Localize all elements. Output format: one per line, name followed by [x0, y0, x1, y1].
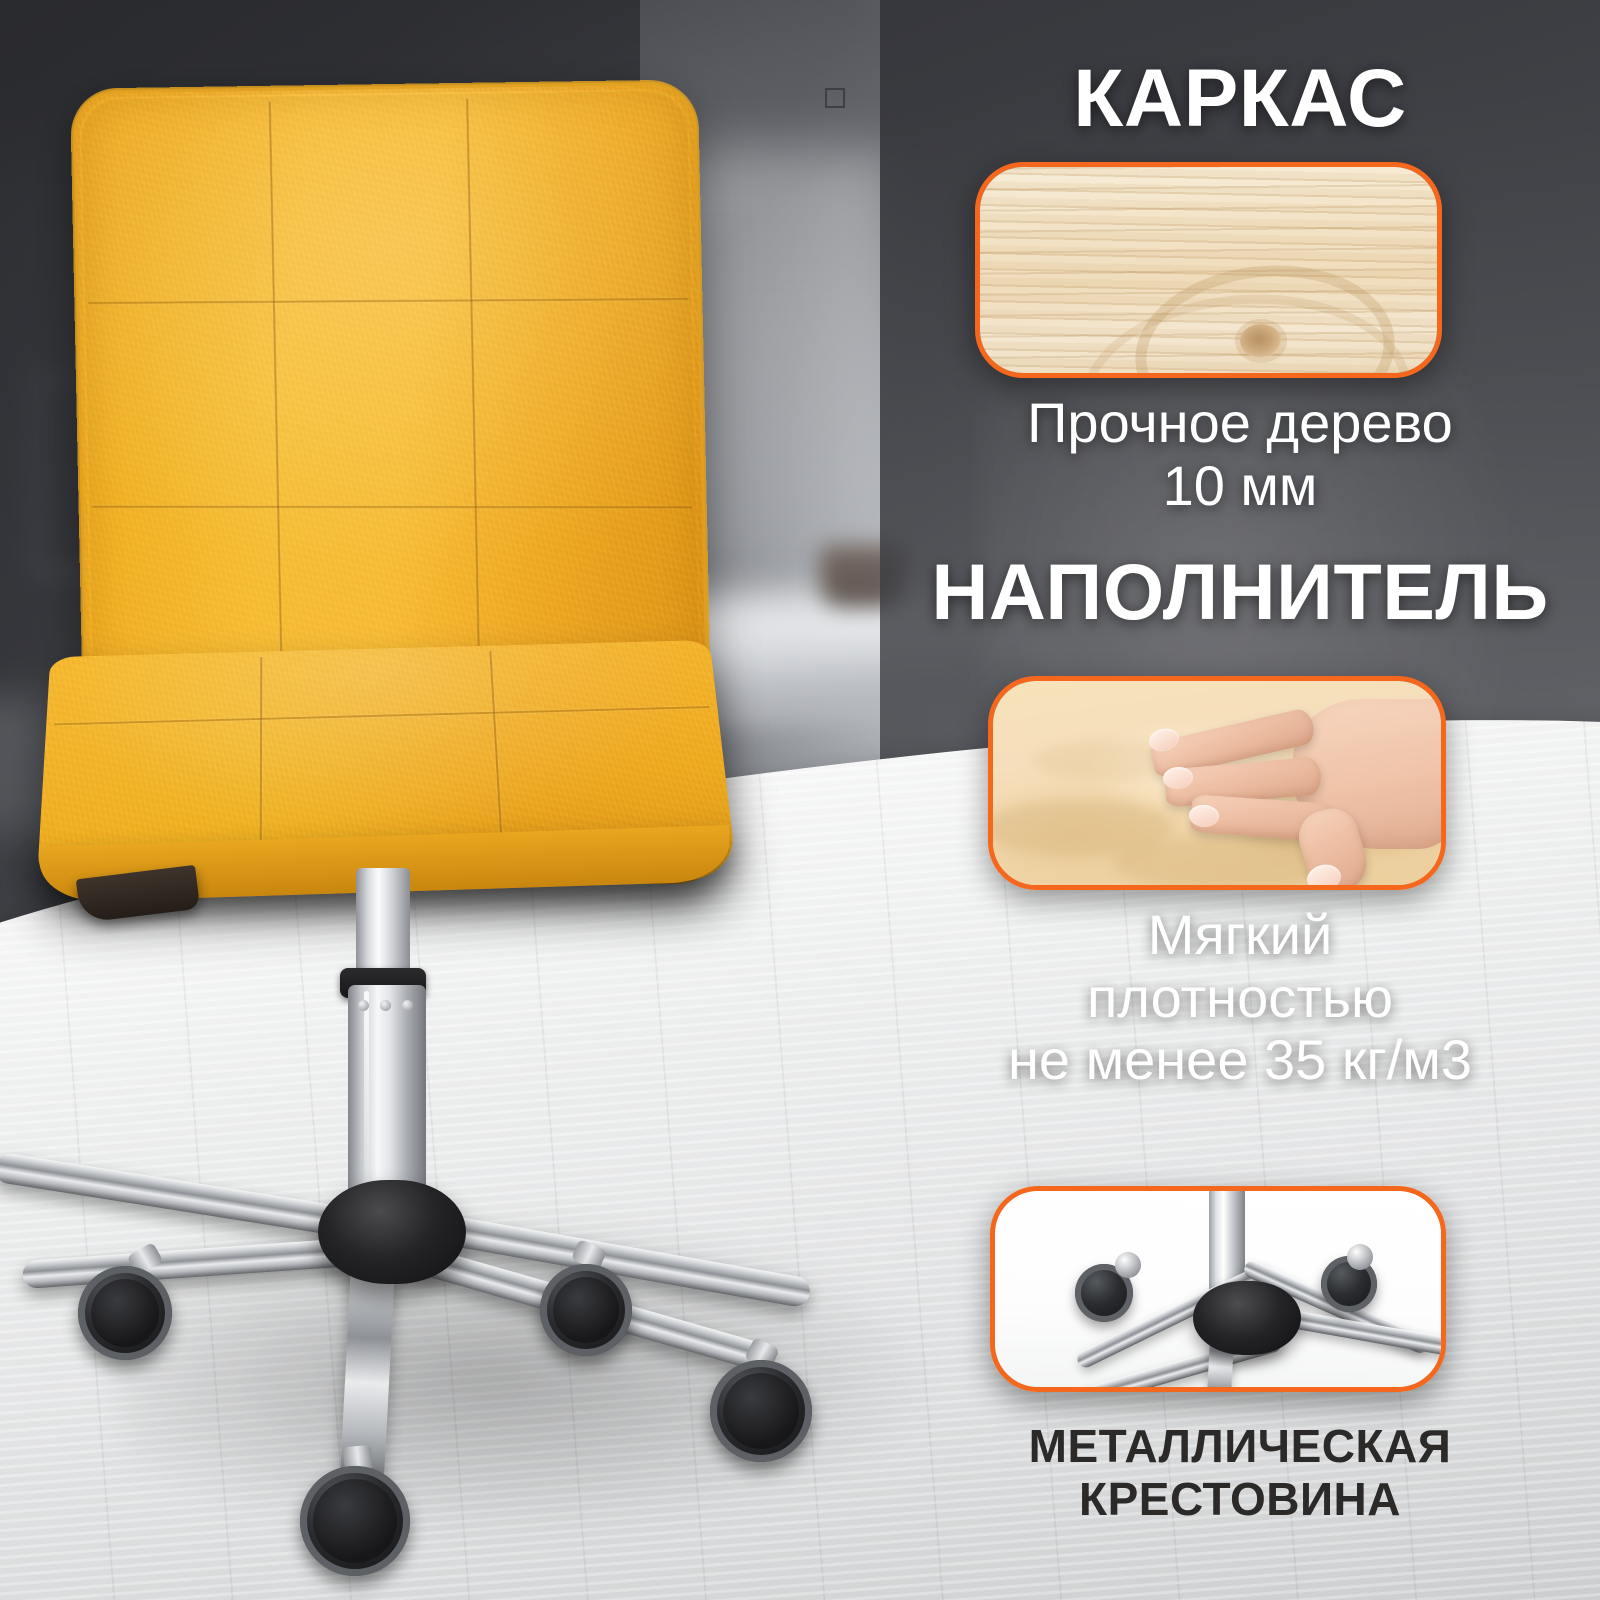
- heading-filler: НАПОЛНИТЕЛЬ: [880, 552, 1600, 631]
- base-photo-hub: [1193, 1281, 1301, 1355]
- card-wood-photo: [975, 162, 1442, 378]
- infographic-canvas: КАРКАС Прочное дерево 10 мм НАПОЛНИТЕЛЬ: [0, 0, 1600, 1600]
- card-base-photo: [990, 1186, 1446, 1392]
- caption-frame-line1: Прочное дерево: [880, 392, 1600, 455]
- foam-texture: [993, 681, 1441, 885]
- caption-filler-line2: плотностью: [880, 967, 1600, 1030]
- caption-base-line1: МЕТАЛЛИЧЕСКАЯ: [880, 1420, 1600, 1473]
- gas-lift-screws: [358, 1000, 414, 1012]
- caption-base: МЕТАЛЛИЧЕСКАЯ КРЕСТОВИНА: [880, 1420, 1600, 1527]
- base-photo-knob-left: [1115, 1252, 1141, 1278]
- wood-knot: [1240, 324, 1282, 358]
- caption-frame-line2: 10 мм: [880, 455, 1600, 518]
- caption-filler-line1: Мягкий: [880, 904, 1600, 967]
- gas-lift-cylinder: [348, 985, 426, 1200]
- wood-texture: [980, 167, 1437, 373]
- product-chair-image: [0, 0, 900, 1600]
- caption-filler: Мягкий плотностью не менее 35 кг/м3: [880, 904, 1600, 1092]
- caption-base-line2: КРЕСТОВИНА: [880, 1473, 1600, 1526]
- caption-frame: Прочное дерево 10 мм: [880, 392, 1600, 517]
- feature-column: КАРКАС Прочное дерево 10 мм НАПОЛНИТЕЛЬ: [880, 0, 1600, 1600]
- heading-frame: КАРКАС: [880, 58, 1600, 140]
- caption-filler-line3: не менее 35 кг/м3: [880, 1029, 1600, 1092]
- card-foam-photo: [988, 676, 1446, 890]
- base-center-hub: [318, 1180, 466, 1284]
- base-photo: [995, 1191, 1441, 1387]
- hand-pressing-foam: [1147, 689, 1446, 890]
